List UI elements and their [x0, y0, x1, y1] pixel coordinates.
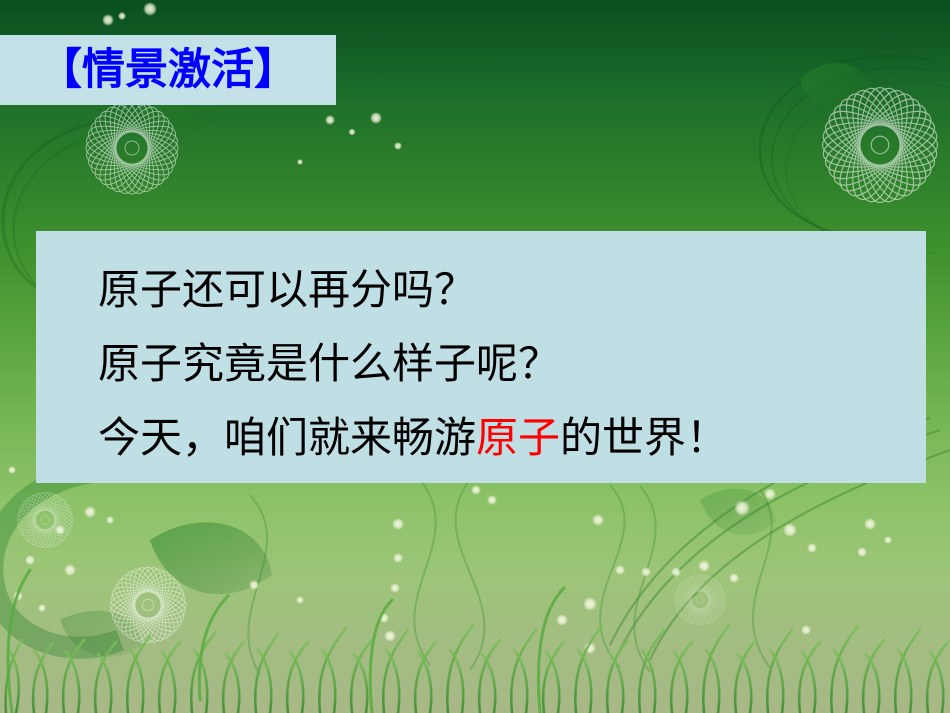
content-line-2: 原子究竟是什么样子呢？	[36, 327, 926, 401]
content-line-3: 今天，咱们就来畅游原子的世界！	[36, 401, 926, 475]
content-line-3-prefix: 今天，咱们就来畅游	[98, 413, 476, 462]
content-text-box: 原子还可以再分吗？ 原子究竟是什么样子呢？ 今天，咱们就来畅游原子的世界！	[36, 231, 926, 483]
vine-swirl-icon	[248, 480, 771, 675]
section-title-box: 【情景激活】	[0, 35, 336, 105]
content-line-3-suffix: 的世界！	[560, 413, 728, 462]
grass-icon	[6, 624, 948, 713]
content-line-1-text: 原子还可以再分吗？	[98, 265, 476, 314]
slide-canvas: 【情景激活】 原子还可以再分吗？ 原子究竟是什么样子呢？ 今天，咱们就来畅游原子…	[0, 0, 950, 713]
content-line-1: 原子还可以再分吗？	[36, 253, 926, 327]
content-line-3-highlight: 原子	[476, 413, 560, 462]
page-title: 【情景激活】	[39, 49, 297, 92]
content-line-2-text: 原子究竟是什么样子呢？	[98, 339, 560, 388]
